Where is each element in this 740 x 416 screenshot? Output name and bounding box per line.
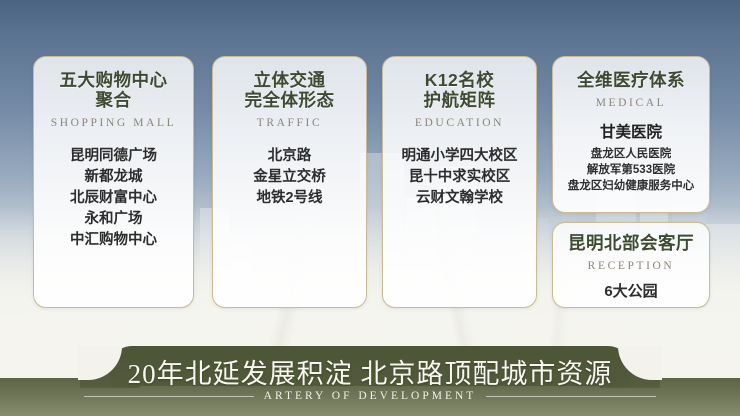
card-title-medical: 全维医疗体系: [553, 70, 709, 90]
list-item: 盘龙区妇幼健康服务中心: [553, 178, 709, 194]
banner-subline-row: ARTERY OF DEVELOPMENT: [0, 390, 740, 402]
info-card-education[interactable]: K12名校 护航矩阵 EDUCATION 明通小学四大校区 昆十中求实校区 云财…: [382, 56, 537, 308]
card-subtitle-reception: RECEPTION: [553, 260, 709, 272]
card-subtitle-shopping-mall: SHOPPING MALL: [34, 117, 193, 129]
info-card-medical[interactable]: 全维医疗体系 MEDICAL 甘美医院 盘龙区人民医院 解放军第533医院 盘龙…: [552, 56, 710, 213]
bottom-banner: 20年北延发展积淀 北京路顶配城市资源 ARTERY OF DEVELOPMEN…: [0, 346, 740, 416]
list-item-primary: 甘美医院: [553, 122, 709, 144]
list-item: 昆十中求实校区: [383, 167, 536, 188]
list-item: 明通小学四大校区: [383, 146, 536, 167]
card-subtitle-medical: MEDICAL: [553, 97, 709, 109]
info-card-shopping-mall[interactable]: 五大购物中心 聚合 SHOPPING MALL 昆明同德广场 新都龙城 北辰财富…: [33, 56, 194, 308]
list-item: 永和广场: [34, 209, 193, 230]
decorative-rule-left: [84, 396, 254, 397]
decorative-rule-right: [486, 396, 656, 397]
list-item: 金星立交桥: [213, 167, 366, 188]
card-title-education: K12名校 护航矩阵: [383, 70, 536, 110]
card-title-traffic: 立体交通 完全体形态: [213, 70, 366, 110]
card-items-education: 明通小学四大校区 昆十中求实校区 云财文翰学校: [383, 146, 536, 209]
list-item: 北京路: [213, 146, 366, 167]
card-items-traffic: 北京路 金星立交桥 地铁2号线: [213, 146, 366, 209]
list-item: 北辰财富中心: [34, 188, 193, 209]
card-title-shopping-mall: 五大购物中心 聚合: [34, 70, 193, 110]
list-item: 地铁2号线: [213, 188, 366, 209]
card-items-reception: 6大公园: [553, 281, 709, 302]
info-card-reception[interactable]: 昆明北部会客厅 RECEPTION 6大公园: [552, 222, 710, 308]
list-item: 解放军第533医院: [553, 162, 709, 178]
banner-subline: ARTERY OF DEVELOPMENT: [264, 390, 477, 402]
list-item: 云财文翰学校: [383, 188, 536, 209]
info-card-traffic[interactable]: 立体交通 完全体形态 TRAFFIC 北京路 金星立交桥 地铁2号线: [212, 56, 367, 308]
promotional-poster: 五大购物中心 聚合 SHOPPING MALL 昆明同德广场 新都龙城 北辰财富…: [0, 0, 740, 416]
list-item: 新都龙城: [34, 167, 193, 188]
list-item: 6大公园: [553, 281, 709, 302]
card-title-reception: 昆明北部会客厅: [553, 233, 709, 253]
list-item: 中汇购物中心: [34, 230, 193, 251]
card-subtitle-education: EDUCATION: [383, 117, 536, 129]
list-item: 盘龙区人民医院: [553, 146, 709, 162]
list-item: 昆明同德广场: [34, 146, 193, 167]
card-subtitle-traffic: TRAFFIC: [213, 117, 366, 129]
card-items-medical: 甘美医院 盘龙区人民医院 解放军第533医院 盘龙区妇幼健康服务中心: [553, 122, 709, 194]
card-items-shopping-mall: 昆明同德广场 新都龙城 北辰财富中心 永和广场 中汇购物中心: [34, 146, 193, 251]
banner-headline: 20年北延发展积淀 北京路顶配城市资源: [0, 352, 740, 391]
